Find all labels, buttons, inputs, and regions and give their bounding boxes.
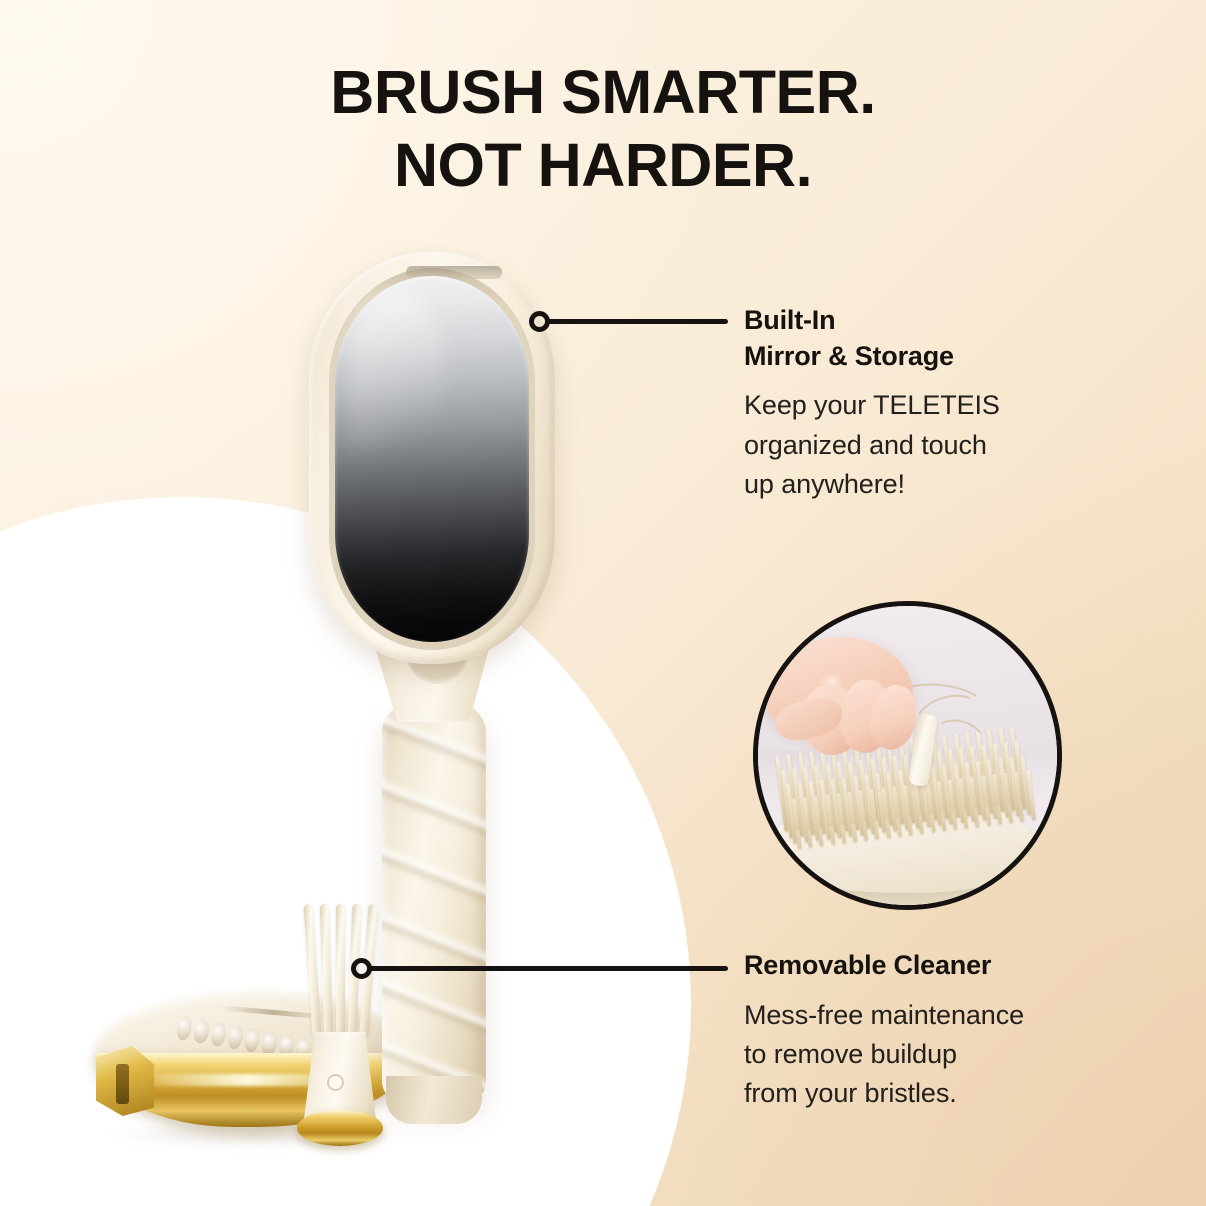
brand-logo-emboss-icon: [327, 1074, 344, 1091]
cleaner-gold-ring: [297, 1110, 383, 1146]
leader-anchor-dot-icon: [351, 958, 372, 979]
leader-line-stroke: [546, 319, 728, 324]
callout-body: Keep your TELETEIS organized and touch u…: [744, 386, 1104, 504]
lid-dimple: [175, 1015, 193, 1041]
leader-line-mirror-storage: [529, 311, 729, 332]
cleaner-prong: [336, 904, 345, 1036]
page-title: BRUSH SMARTER. NOT HARDER.: [0, 56, 1206, 202]
hinge-gap: [116, 1064, 129, 1104]
infographic-canvas: BRUSH SMARTER. NOT HARDER.: [0, 0, 1206, 1206]
leader-anchor-dot-icon: [529, 311, 550, 332]
leader-line-removable-cleaner: [351, 958, 729, 979]
callout-title: Removable Cleaner: [744, 948, 1116, 984]
lid-dimple: [243, 1027, 261, 1053]
lid-dimple: [209, 1021, 227, 1047]
brush-handle: [382, 703, 486, 1103]
leader-line-stroke: [368, 966, 728, 971]
cleaner-prong: [303, 904, 321, 1036]
callout-title: Built-In Mirror & Storage: [744, 303, 1104, 374]
cleaner-prong: [320, 904, 334, 1036]
product-illustration: [90, 248, 610, 1148]
handle-base-taper: [386, 1076, 482, 1124]
inset-photo-removable-cleaner: [753, 601, 1062, 910]
callout-removable-cleaner: Removable Cleaner Mess-free maintenance …: [744, 948, 1116, 1114]
callout-built-in-mirror-storage: Built-In Mirror & Storage Keep your TELE…: [744, 303, 1104, 504]
lid-dimple: [192, 1018, 210, 1044]
lid-dimple: [226, 1024, 244, 1050]
hand: [764, 630, 937, 756]
callout-body: Mess-free maintenance to remove buildup …: [744, 996, 1116, 1114]
mirror-highlight: [348, 288, 444, 498]
